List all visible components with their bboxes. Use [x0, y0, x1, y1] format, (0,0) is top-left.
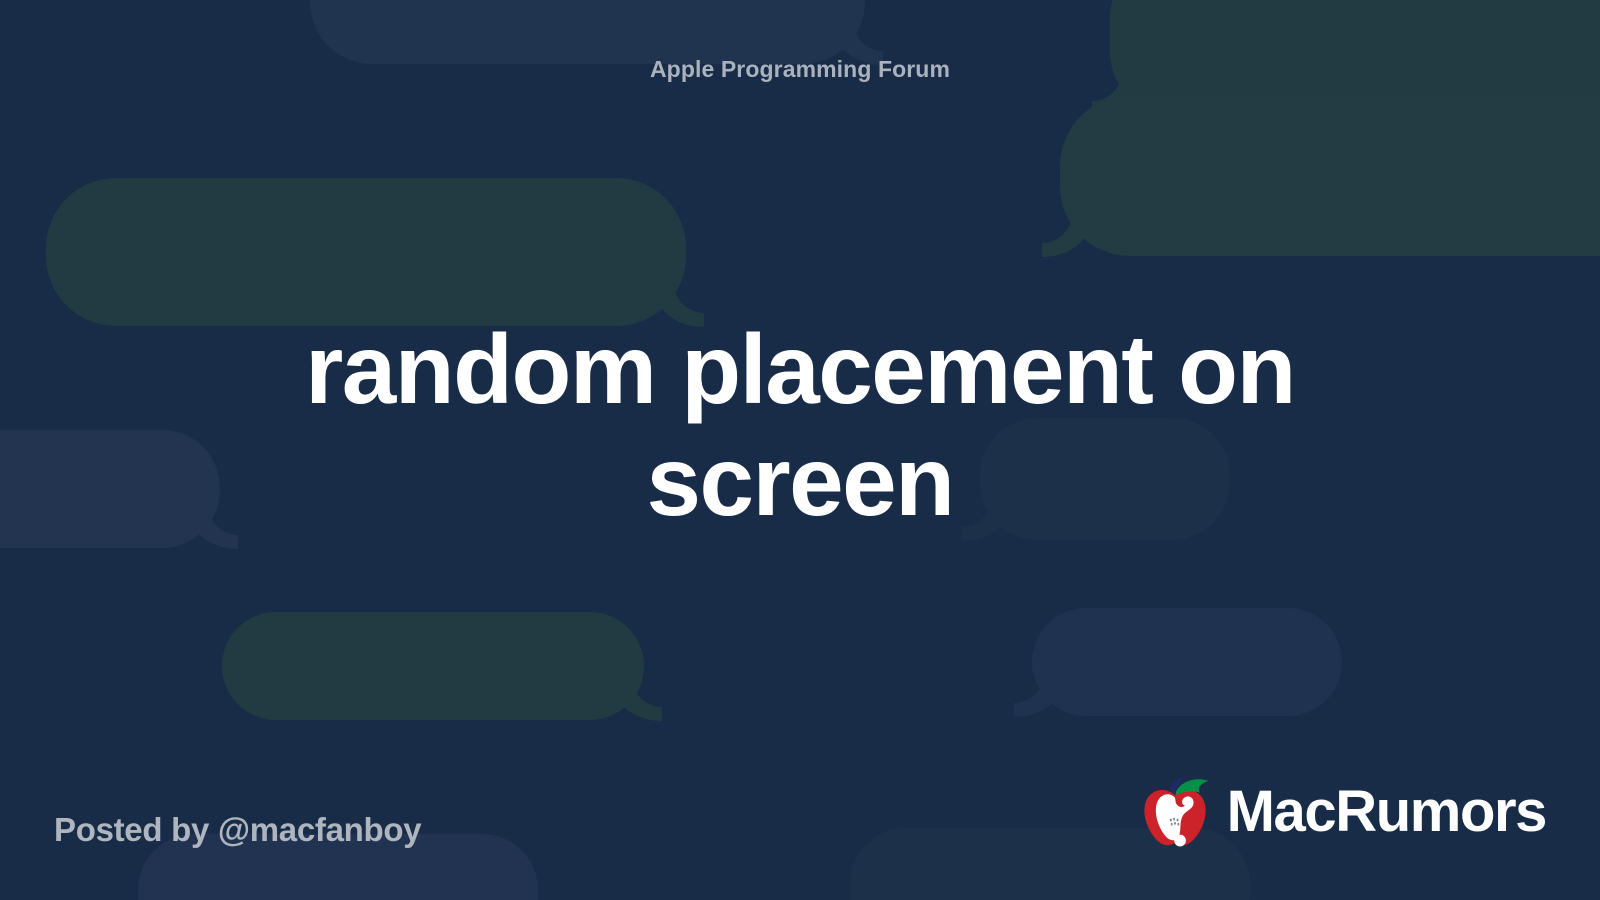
posted-by-label: Posted by @macfanboy [54, 813, 421, 854]
forum-name: Apple Programming Forum [54, 58, 1546, 81]
macrumors-apple-icon [1133, 770, 1217, 854]
card-content: Apple Programming Forum random placement… [0, 0, 1600, 900]
thread-title: random placement on screen [190, 314, 1410, 537]
macrumors-wordmark: MacRumors [1227, 783, 1546, 841]
title-container: random placement on screen [54, 81, 1546, 770]
share-card: Apple Programming Forum random placement… [0, 0, 1600, 900]
macrumors-brand: MacRumors [1133, 770, 1546, 854]
card-footer: Posted by @macfanboy [54, 770, 1546, 854]
